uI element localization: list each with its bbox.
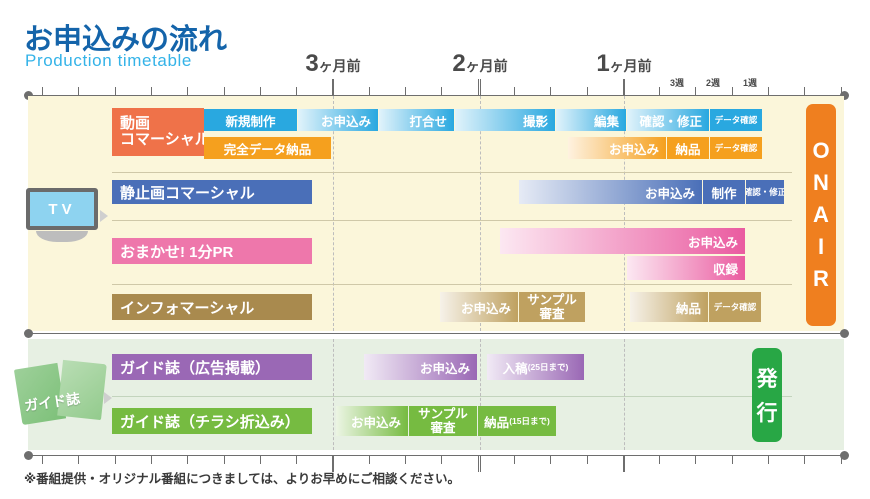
badge-char: O bbox=[812, 138, 829, 164]
task-bar: 納品 bbox=[667, 137, 709, 159]
badge-char: N bbox=[813, 170, 829, 196]
timeline-week-label: 1週 bbox=[743, 76, 757, 89]
task-bar: データ確認 bbox=[710, 137, 762, 159]
row-label-2: おまかせ! 1分PR bbox=[112, 238, 312, 264]
task-bar-label: 収録 bbox=[713, 259, 738, 278]
timeline-tick bbox=[695, 87, 696, 95]
footnote: ※番組提供・オリジナル番組につきましては、よりお早めにご相談ください。 bbox=[24, 468, 460, 487]
task-bar: 入稿(25日まで) bbox=[487, 354, 584, 380]
task-bar: お申込み bbox=[364, 354, 477, 380]
timeline-tick bbox=[260, 456, 261, 464]
task-bar-label: 納品 bbox=[675, 139, 700, 158]
timeline-tick bbox=[224, 87, 225, 95]
timeline-tick bbox=[550, 456, 551, 464]
row-divider bbox=[112, 172, 792, 173]
task-bar: データ確認 bbox=[710, 109, 762, 131]
timeline-tick bbox=[732, 456, 733, 464]
task-bar-label: お申込み bbox=[461, 298, 511, 317]
tv-arrow-icon bbox=[100, 210, 108, 222]
task-bar-label: 確認・修正 bbox=[746, 186, 784, 198]
timeline-tick bbox=[151, 87, 152, 95]
row-label-5: ガイド誌（チラシ折込み） bbox=[112, 408, 312, 434]
timeline-major-label: 2ヶ月前 bbox=[452, 50, 507, 78]
timeline-tick bbox=[405, 87, 406, 95]
task-bar: 納品 bbox=[630, 292, 708, 322]
task-bar: お申込み bbox=[440, 292, 518, 322]
timeline-tick bbox=[732, 87, 733, 95]
timeline-tick bbox=[115, 456, 116, 464]
task-bar: お申込み bbox=[336, 406, 408, 436]
timeline-tick bbox=[514, 87, 515, 95]
task-bar-label-line2: 審査 bbox=[430, 421, 455, 435]
row-label-0: 動画コマーシャル bbox=[112, 108, 204, 156]
timeline-axis-middle bbox=[28, 333, 844, 334]
timeline-tick-major bbox=[624, 456, 625, 472]
badge-char: R bbox=[813, 266, 829, 292]
task-bar-label: データ確認 bbox=[714, 301, 757, 313]
timeline-tick bbox=[659, 456, 660, 464]
timeline-tick bbox=[369, 456, 370, 464]
task-bar-label: データ確認 bbox=[715, 142, 758, 154]
tv-icon-label: TV bbox=[48, 201, 75, 218]
task-bar: サンプル審査 bbox=[409, 406, 477, 436]
task-bar: 確認・修正 bbox=[627, 109, 709, 131]
task-bar-label: 制作 bbox=[711, 183, 736, 202]
task-bar: 納品(15日まで) bbox=[478, 406, 556, 436]
task-bar-label-line1: サンプル bbox=[527, 293, 577, 307]
task-bar-label: お申込み bbox=[351, 412, 401, 431]
month-separator bbox=[333, 96, 334, 331]
timeline-tick bbox=[478, 456, 479, 472]
row-divider bbox=[112, 284, 792, 285]
task-bar-label: 編集 bbox=[594, 111, 619, 130]
row-divider bbox=[112, 396, 792, 397]
task-bar: お申込み bbox=[298, 109, 378, 131]
timeline-tick bbox=[695, 456, 696, 464]
task-bar-label: 撮影 bbox=[523, 111, 548, 130]
timeline-tick bbox=[187, 456, 188, 464]
timeline-tick bbox=[405, 456, 406, 464]
timeline-tick bbox=[78, 456, 79, 464]
timeline-tick bbox=[187, 87, 188, 95]
timeline-tick bbox=[42, 87, 43, 95]
timeline-tick bbox=[296, 456, 297, 464]
timeline-tick bbox=[441, 87, 442, 95]
month-separator bbox=[624, 339, 625, 450]
tv-screen: TV bbox=[26, 188, 98, 230]
task-bar: 制作 bbox=[703, 180, 745, 204]
task-bar: データ確認 bbox=[709, 292, 761, 322]
timeline-tick bbox=[768, 456, 769, 464]
task-bar-label: お申込み bbox=[688, 232, 738, 251]
badge-hakko: 発行 bbox=[752, 348, 782, 442]
timeline-tick bbox=[804, 456, 805, 464]
book-arrow-icon bbox=[104, 392, 112, 404]
task-bar-label: 入稿 bbox=[503, 358, 528, 377]
timeline-week-label: 3週 bbox=[670, 76, 684, 89]
badge-on-air: ONAIR bbox=[806, 104, 836, 326]
timeline-tick-major bbox=[333, 79, 334, 95]
row-label-line2: コマーシャル bbox=[120, 132, 210, 148]
row-label-line1: 動画 bbox=[120, 116, 150, 132]
timeline-tick bbox=[296, 87, 297, 95]
task-bar: 完全データ納品 bbox=[204, 137, 331, 159]
timetable-infographic: お申込みの流れ Production timetable 3ヶ月前2ヶ月前1ヶ月… bbox=[0, 0, 870, 499]
timeline-tick bbox=[587, 456, 588, 464]
timeline-tick bbox=[478, 79, 479, 95]
task-bar-sublabel: (15日まで) bbox=[509, 415, 550, 427]
task-bar: 収録 bbox=[627, 256, 745, 280]
timeline-tick bbox=[78, 87, 79, 95]
task-bar-label: データ確認 bbox=[715, 114, 758, 126]
timeline-week-label: 2週 bbox=[706, 76, 720, 89]
task-bar-label: 完全データ納品 bbox=[224, 139, 312, 158]
axis-dot-mid-right bbox=[840, 329, 849, 338]
timeline-tick bbox=[804, 87, 805, 95]
timeline-tick bbox=[151, 456, 152, 464]
timeline-tick bbox=[587, 87, 588, 95]
task-bar: お申込み bbox=[568, 137, 666, 159]
badge-char: 発 bbox=[757, 363, 778, 393]
task-bar-label: 納品 bbox=[676, 298, 701, 317]
row-label-1: 静止画コマーシャル bbox=[112, 180, 312, 204]
row-label-3: インフォマーシャル bbox=[112, 294, 312, 320]
timeline-tick-major bbox=[480, 456, 481, 472]
timeline-tick bbox=[441, 456, 442, 464]
timeline-tick bbox=[659, 87, 660, 95]
timeline-tick bbox=[841, 87, 842, 95]
timeline-tick bbox=[42, 456, 43, 464]
timeline-tick bbox=[550, 87, 551, 95]
task-bar-label: お申込み bbox=[321, 111, 371, 130]
badge-char: I bbox=[818, 234, 824, 260]
timeline-tick-major bbox=[480, 79, 481, 95]
row-label-4: ガイド誌（広告掲載） bbox=[112, 354, 312, 380]
row-divider bbox=[112, 220, 792, 221]
task-bar-label: 確認・修正 bbox=[639, 111, 702, 130]
timeline-major-label: 1ヶ月前 bbox=[596, 50, 651, 78]
timeline-tick bbox=[260, 87, 261, 95]
page-subtitle: Production timetable bbox=[25, 51, 192, 71]
task-bar-sublabel: (25日まで) bbox=[528, 361, 569, 373]
task-bar-label: お申込み bbox=[420, 358, 470, 377]
timeline-tick bbox=[115, 87, 116, 95]
timeline-tick bbox=[369, 87, 370, 95]
task-bar: 打合せ bbox=[379, 109, 454, 131]
timeline-tick bbox=[514, 456, 515, 464]
task-bar: 確認・修正 bbox=[746, 180, 784, 204]
timeline-major-label: 3ヶ月前 bbox=[305, 50, 360, 78]
task-bar-label: 新規制作 bbox=[225, 111, 275, 130]
timeline-tick-major bbox=[624, 79, 625, 95]
axis-dot-mid-left bbox=[24, 329, 33, 338]
task-bar-label-line2: 審査 bbox=[539, 307, 564, 321]
axis-dot-bot-left bbox=[24, 451, 33, 460]
timeline-tick bbox=[841, 456, 842, 464]
tv-icon: TV bbox=[22, 188, 106, 246]
badge-char: A bbox=[813, 202, 829, 228]
task-bar-label: 納品 bbox=[484, 412, 509, 431]
task-bar-label: お申込み bbox=[645, 183, 695, 202]
timeline-tick bbox=[768, 87, 769, 95]
task-bar-label: 打合せ bbox=[409, 111, 447, 130]
task-bar: サンプル審査 bbox=[519, 292, 585, 322]
task-bar: 撮影 bbox=[455, 109, 555, 131]
badge-char: 行 bbox=[757, 397, 778, 427]
task-bar: 編集 bbox=[556, 109, 626, 131]
task-bar: お申込み bbox=[519, 180, 702, 204]
month-separator bbox=[333, 339, 334, 450]
month-separator bbox=[624, 96, 625, 331]
timeline-tick bbox=[224, 456, 225, 464]
tv-stand bbox=[36, 231, 88, 242]
task-bar-label: お申込み bbox=[609, 139, 659, 158]
book-icon: ガイド誌 bbox=[18, 358, 110, 428]
task-bar: お申込み bbox=[500, 228, 745, 254]
task-bar: 新規制作 bbox=[204, 109, 297, 131]
task-bar-label-line1: サンプル bbox=[418, 407, 468, 421]
